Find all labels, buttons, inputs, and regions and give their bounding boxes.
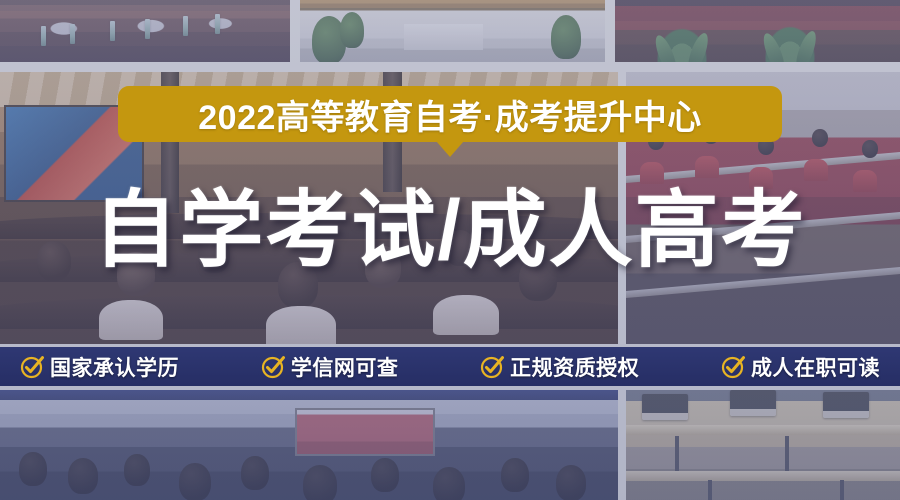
feature-label: 学信网可查 — [291, 352, 399, 382]
feature-label: 正规资质授权 — [510, 352, 639, 382]
circle-check-icon — [261, 354, 286, 379]
feature-item-national-degree: 国家承认学历 — [20, 352, 179, 382]
auditorium-crowd-photo — [0, 390, 618, 500]
feature-item-licensed: 正规资质授权 — [480, 352, 639, 382]
circle-check-icon — [721, 354, 746, 379]
computer-lab-photo — [626, 390, 900, 500]
headline-title: 自学考试/成人高考 — [0, 188, 900, 272]
circle-check-icon — [480, 354, 505, 379]
feature-label: 国家承认学历 — [50, 352, 179, 382]
conference-table-photo — [0, 0, 290, 62]
promo-banner: 2022高等教育自考·成考提升中心 自学考试/成人高考 国家承认学历 — [0, 0, 900, 500]
feature-label: 成人在职可读 — [751, 352, 880, 382]
ribbon-text: 2022高等教育自考·成考提升中心 — [198, 90, 701, 139]
podium-greenery-photo — [615, 0, 900, 62]
ribbon-tail-triangle — [436, 141, 464, 157]
feature-strip: 国家承认学历 学信网可查 正规资质授权 — [0, 347, 900, 386]
circle-check-icon — [20, 354, 45, 379]
ribbon-body: 2022高等教育自考·成考提升中心 — [118, 86, 782, 142]
feature-item-chsi-verifiable: 学信网可查 — [261, 352, 399, 382]
reception-desk-photo — [300, 0, 605, 62]
feature-item-working-adults: 成人在职可读 — [721, 352, 880, 382]
ribbon-callout: 2022高等教育自考·成考提升中心 — [118, 86, 782, 142]
